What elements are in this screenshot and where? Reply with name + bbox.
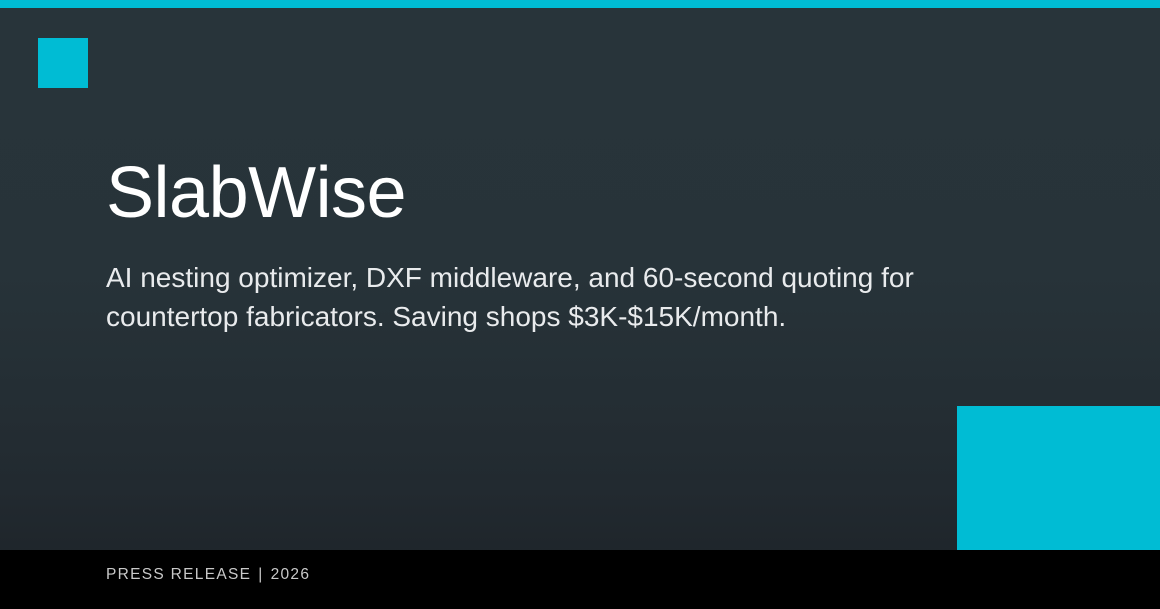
slide-subtitle: AI nesting optimizer, DXF middleware, an… xyxy=(106,258,916,336)
press-release-slide: SlabWise AI nesting optimizer, DXF middl… xyxy=(0,0,1160,609)
corner-accent-block xyxy=(957,406,1160,550)
top-accent-bar xyxy=(0,0,1160,8)
footer-year: 2026 xyxy=(271,566,311,583)
footer-label: PRESS RELEASE xyxy=(106,566,251,583)
slide-content: SlabWise AI nesting optimizer, DXF middl… xyxy=(106,150,936,336)
footer-meta: PRESS RELEASE|2026 xyxy=(106,565,310,585)
footer-separator: | xyxy=(251,566,270,583)
logo-square-mark xyxy=(38,38,88,88)
page-title: SlabWise xyxy=(106,150,936,236)
